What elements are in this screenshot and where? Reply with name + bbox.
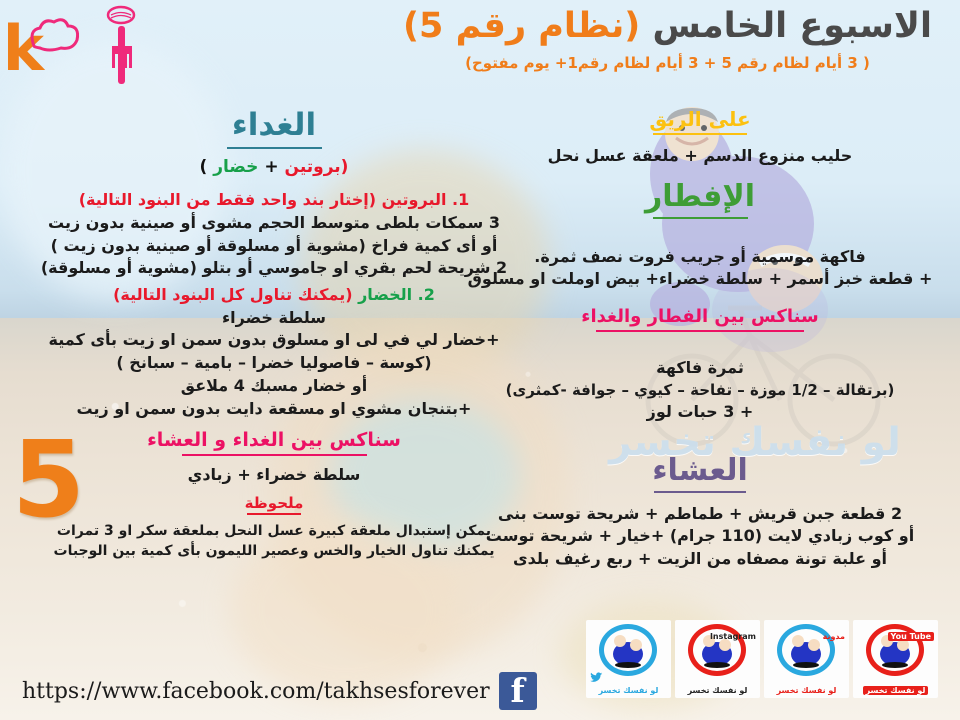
dinner-item: أو كوب زبادي لايت (110 جرام) +خيار + شري… [440, 525, 960, 548]
badge-caption: لو نفسك تخسر [863, 686, 929, 695]
badge-network-label: Instagram [710, 632, 756, 641]
badge-blog[interactable]: مدونة لو نفسك تخسر [764, 620, 849, 698]
dinner-heading-rule [654, 491, 746, 493]
lunch-protein-note: (إختار بند واحد فقط من البنود التالية) [79, 190, 376, 209]
poster-root: لو نفسك تخسر z ak الاسبوع الخامس (نظام ر… [0, 0, 960, 720]
page-subtitle: ( 3 أيام لظام رقم 5 + 3 أيام لظام رقم1+ … [380, 54, 955, 72]
breakfast-item: + قطعة خبز أسمر + سلطة خضراء+ بيض اوملت … [440, 268, 960, 291]
meals-column: على الريق حليب منزوع الدسم + ملعقة عسل ن… [440, 108, 960, 571]
fasting-heading: على الريق [649, 108, 750, 138]
lunch-subtitle-plus: + [258, 157, 284, 177]
facebook-icon[interactable] [499, 672, 537, 710]
badge-instagram[interactable]: Instagram لو نفسك تخسر [675, 620, 760, 698]
page-title-plan-number: (نظام رقم 5) [403, 6, 640, 46]
breakfast-heading-rule [653, 217, 748, 219]
snack-breakfast-lunch-item: + 3 حبات لوز [440, 401, 960, 424]
badge-caption: لو نفسك تخسر [586, 686, 671, 695]
lunch-heading: الغداء [227, 108, 322, 152]
lunch-heading-rule [227, 147, 322, 149]
mascot-icon [608, 634, 648, 668]
badge-caption-wrap: لو نفسك تخسر [853, 686, 938, 695]
snack-lunch-dinner-heading: سناكس بين الغداء و العشاء [147, 430, 401, 459]
note-heading-label: ملحوظة [245, 494, 304, 512]
lunch-subtitle-close: ) [200, 157, 214, 177]
twitter-icon [590, 671, 603, 684]
breakfast-heading: الإفطار [645, 180, 755, 222]
snack-breakfast-lunch-heading: سناكس بين الفطار والغداء [581, 307, 818, 335]
page-title: الاسبوع الخامس (نظام رقم 5) [380, 6, 955, 46]
badge-caption: لو نفسك تخسر [675, 686, 760, 695]
breakfast-item: فاكهة موسمية أو جريب فروت نصف ثمرة. [440, 246, 960, 269]
fasting-item: حليب منزوع الدسم + ملعقة عسل نحل [440, 145, 960, 168]
snack-lunch-dinner-label: سناكس بين الغداء و العشاء [147, 429, 401, 451]
snack-breakfast-lunch-item: ثمرة فاكهة [440, 357, 960, 380]
note-heading-rule [247, 513, 301, 515]
lunch-heading-label: الغداء [232, 107, 316, 143]
badge-youtube[interactable]: You Tube لو نفسك تخسر [853, 620, 938, 698]
facebook-link[interactable]: https://www.facebook.com/takhsesforever [22, 672, 537, 710]
snack-breakfast-lunch-rule [596, 330, 804, 332]
snack-breakfast-lunch-item: (برتقالة – 1/2 موزة – تفاحة – كيوي – جوا… [440, 380, 960, 401]
social-badges: You Tube لو نفسك تخسر مدونة لو نفسك تخسر… [586, 620, 938, 698]
badge-network-label: مدونة [823, 632, 845, 641]
lunch-veg-label: 2. الخضار [358, 285, 435, 304]
dinner-item: 2 قطعة جبن قريش + طماطم + شريحة توست بنى [440, 503, 960, 526]
page-title-main: الاسبوع الخامس [653, 6, 932, 46]
lunch-subtitle-protein: (بروتين [285, 157, 349, 177]
snack-breakfast-lunch-label: سناكس بين الفطار والغداء [581, 306, 818, 327]
badge-twitter[interactable]: لو نفسك تخسر [586, 620, 671, 698]
dinner-item: أو علبة تونة مصفاه من الزيت + ربع رغيف ب… [440, 548, 960, 571]
fasting-heading-label: على الريق [649, 107, 750, 131]
breakfast-heading-label: الإفطار [645, 179, 755, 214]
mascot-icon [786, 634, 826, 668]
lunch-subtitle-veg: خضار [213, 157, 258, 177]
dinner-heading-label: العشاء [652, 453, 748, 488]
facebook-url-text[interactable]: https://www.facebook.com/takhsesforever [22, 679, 490, 704]
dinner-heading: العشاء [652, 454, 748, 496]
fasting-heading-rule [653, 133, 747, 135]
badge-caption: لو نفسك تخسر [764, 686, 849, 695]
badge-network-label: You Tube [888, 632, 934, 641]
zaki-logo: z ak [8, 4, 148, 96]
note-heading: ملحوظة [245, 495, 304, 519]
lunch-veg-note: (يمكنك تناول كل البنود التالية) [113, 285, 352, 304]
header: الاسبوع الخامس (نظام رقم 5) ( 3 أيام لظا… [380, 6, 955, 72]
snack-lunch-dinner-rule [182, 454, 367, 456]
